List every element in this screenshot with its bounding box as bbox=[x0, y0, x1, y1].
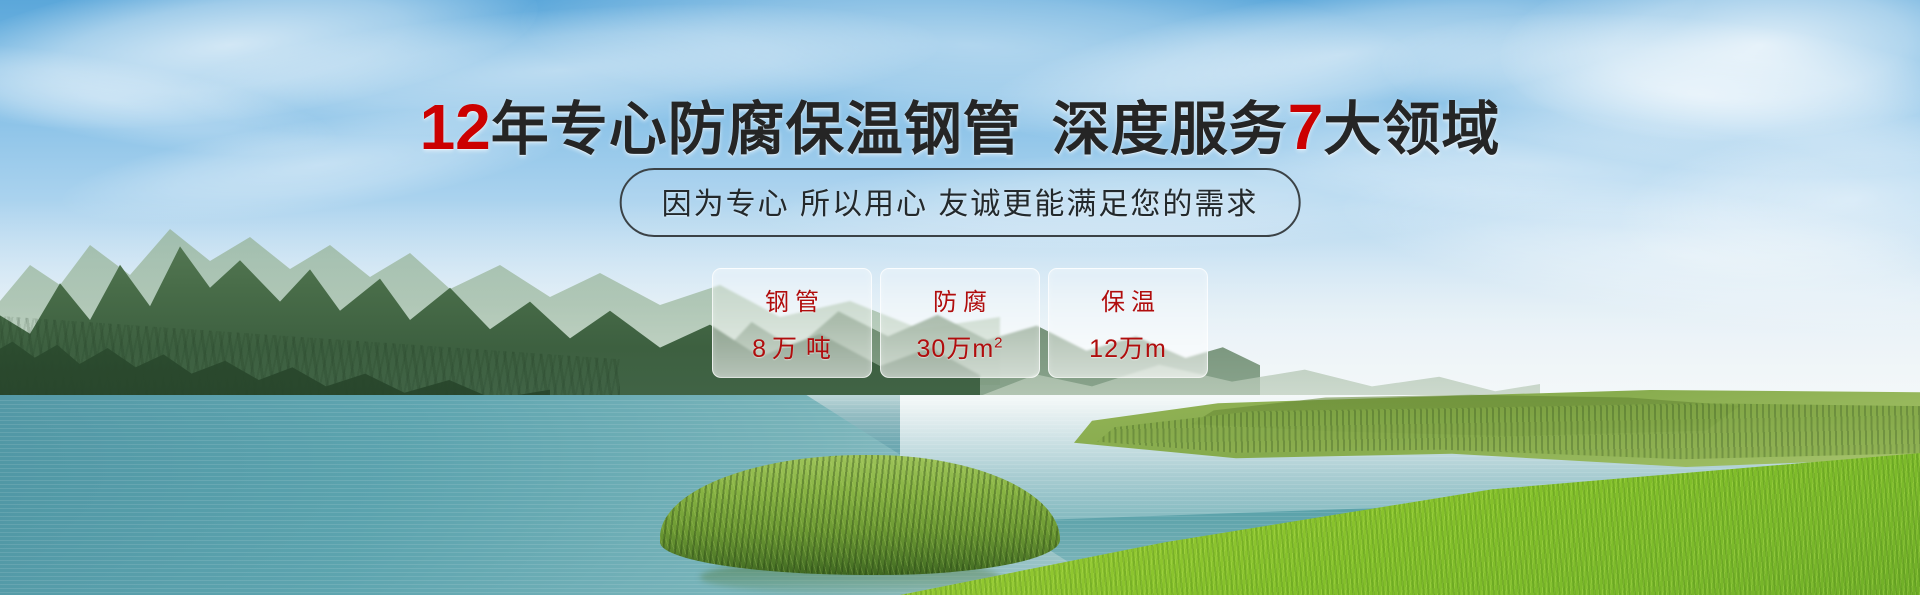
stat-card-value: 12万m bbox=[1089, 329, 1167, 365]
stat-value-number: 12 bbox=[1089, 335, 1119, 363]
headline-fields-number: 7 bbox=[1288, 91, 1324, 163]
headline-years-number: 12 bbox=[420, 91, 491, 163]
banner-content: 12年专心防腐保温钢管深度服务7大领域 因为专心 所以用心 友诚更能满足您的需求… bbox=[0, 0, 1920, 595]
stat-card-anticorrosion[interactable]: 防腐 30万m2 bbox=[880, 268, 1040, 378]
stat-value-superscript: 2 bbox=[994, 334, 1003, 351]
subtitle-text: 因为专心 所以用心 友诚更能满足您的需求 bbox=[662, 188, 1259, 221]
promo-banner: 12年专心防腐保温钢管深度服务7大领域 因为专心 所以用心 友诚更能满足您的需求… bbox=[0, 0, 1920, 595]
headline-fields-text: 大领域 bbox=[1323, 97, 1500, 162]
headline-years-text: 年专心防腐保温钢管 bbox=[491, 97, 1022, 162]
headline-service-text: 深度服务 bbox=[1052, 97, 1288, 162]
stat-card-insulation[interactable]: 保温 12万m bbox=[1048, 268, 1208, 378]
headline: 12年专心防腐保温钢管深度服务7大领域 bbox=[0, 82, 1920, 166]
stat-value-unit: 万m bbox=[946, 335, 994, 363]
stats-card-group: 钢管 8万 吨 防腐 30万m2 保温 12万m bbox=[712, 268, 1208, 378]
stat-card-label: 保温 bbox=[1095, 282, 1161, 317]
stat-card-label: 钢管 bbox=[759, 282, 825, 317]
stat-value-number: 8 bbox=[752, 335, 767, 363]
stat-card-steel-pipe[interactable]: 钢管 8万 吨 bbox=[712, 268, 872, 378]
stat-value-unit: 万m bbox=[1119, 335, 1167, 363]
stat-card-value: 8万 吨 bbox=[752, 329, 832, 365]
subtitle-pill: 因为专心 所以用心 友诚更能满足您的需求 bbox=[620, 168, 1301, 237]
stat-card-value: 30万m2 bbox=[917, 329, 1004, 365]
stat-value-number: 30 bbox=[917, 335, 947, 363]
stat-card-label: 防腐 bbox=[927, 282, 993, 317]
stat-value-unit: 万 吨 bbox=[772, 335, 832, 363]
